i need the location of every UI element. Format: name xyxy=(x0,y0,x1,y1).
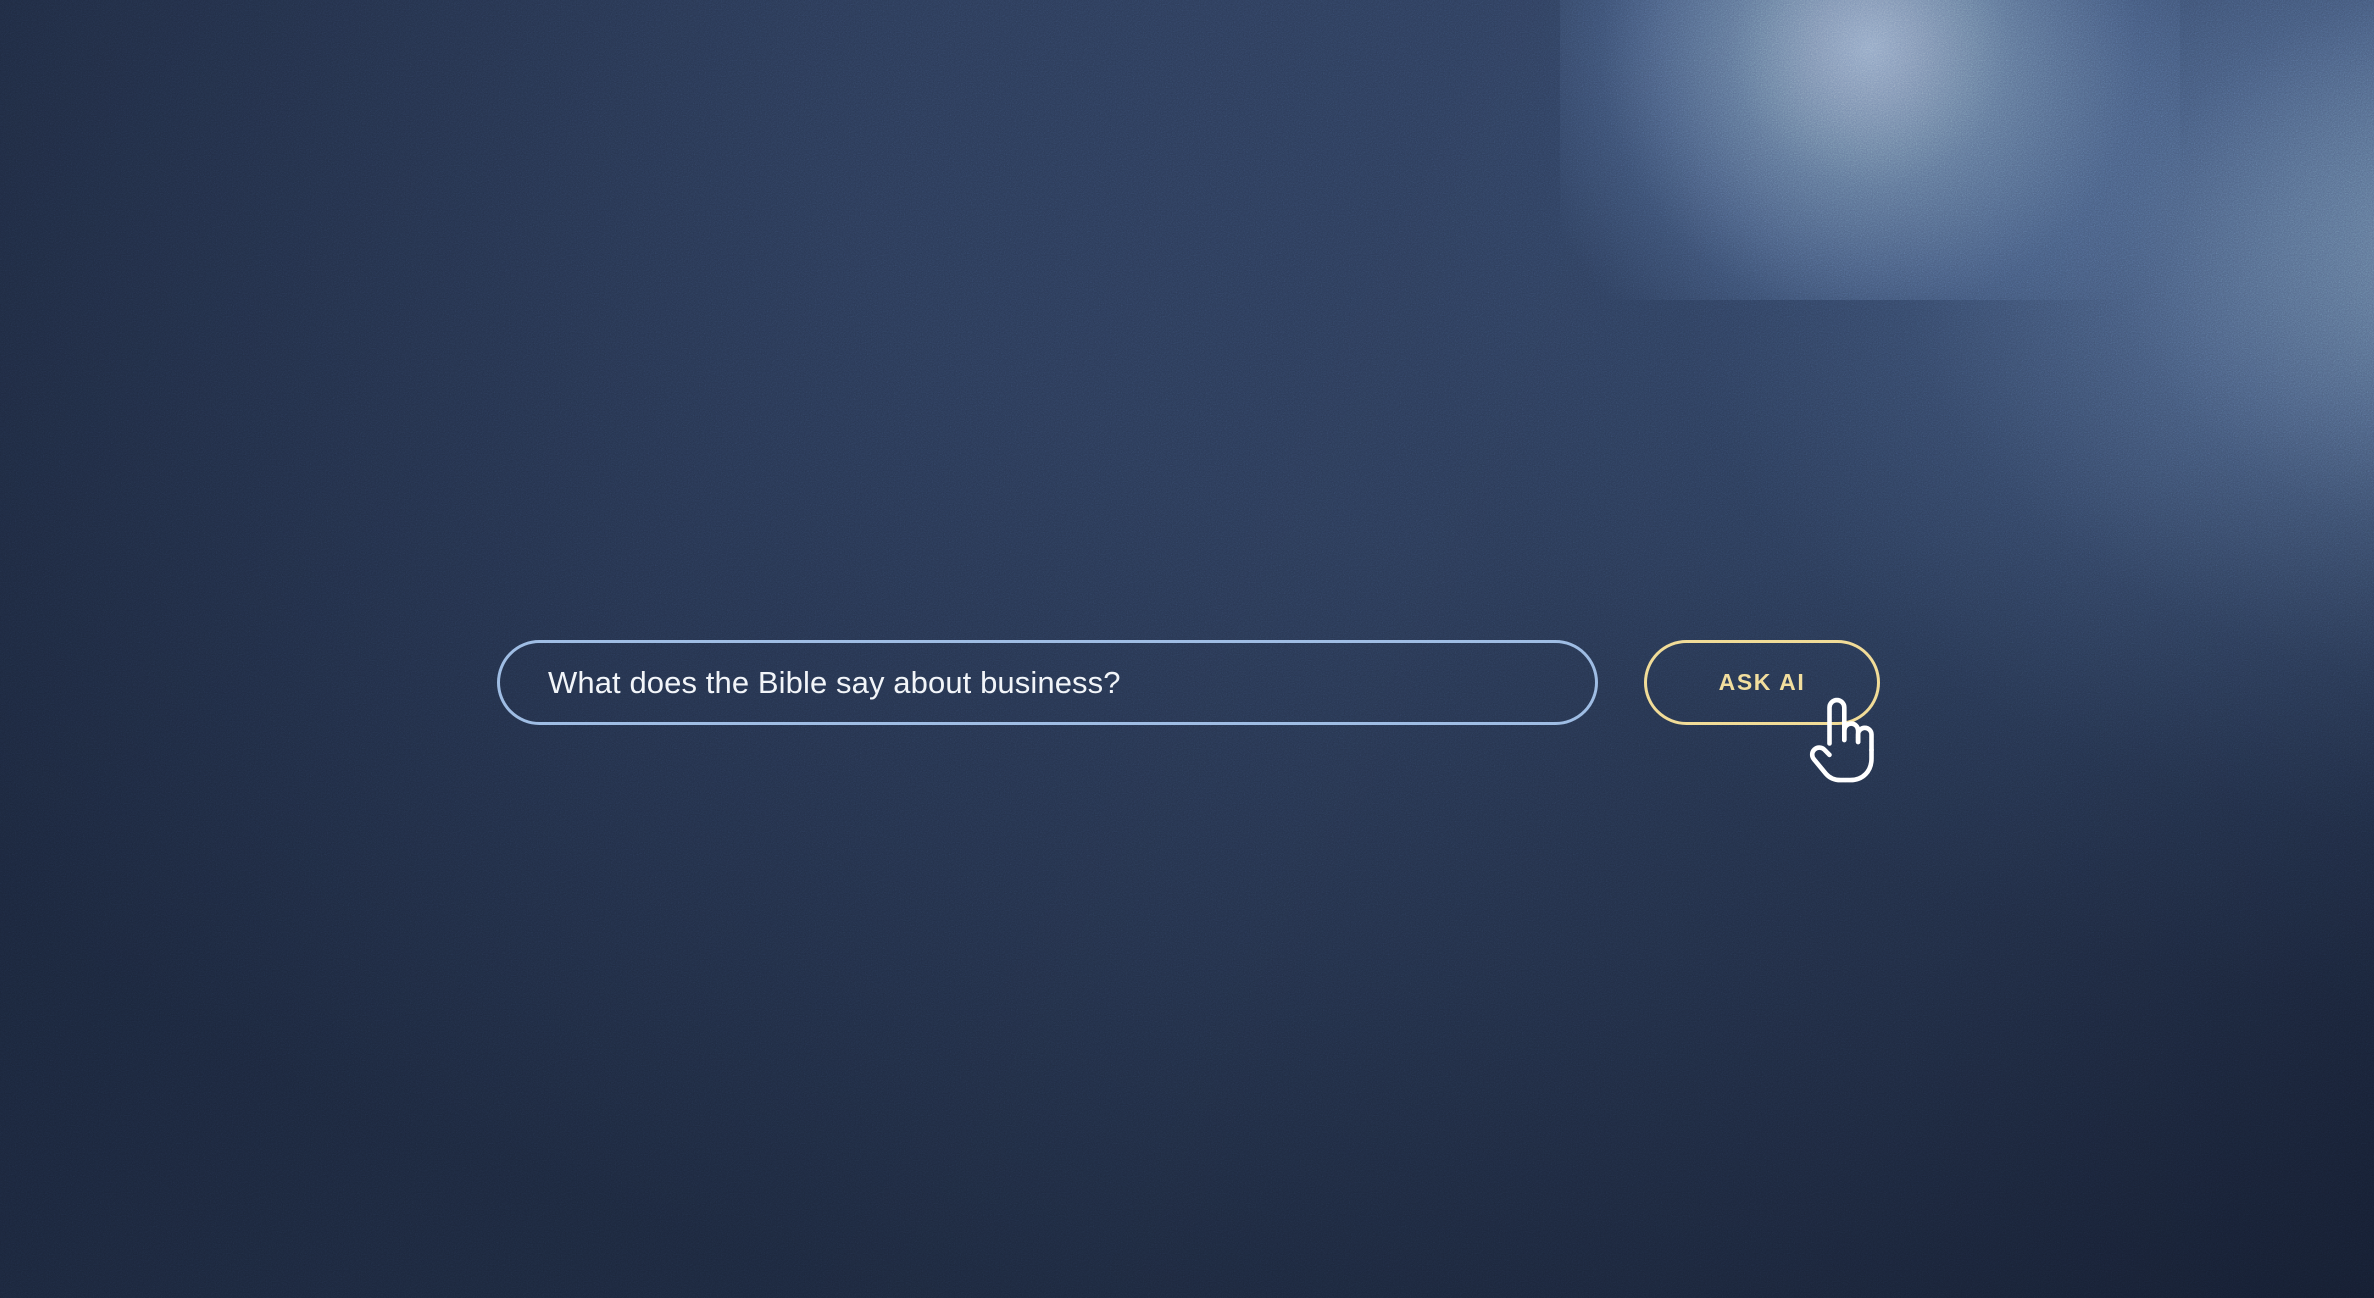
search-field[interactable] xyxy=(497,640,1598,725)
search-row: ASK AI xyxy=(497,640,1880,725)
ask-ai-button-wrapper: ASK AI xyxy=(1644,640,1880,725)
ask-ai-button[interactable]: ASK AI xyxy=(1644,640,1880,725)
search-input[interactable] xyxy=(548,665,1565,701)
